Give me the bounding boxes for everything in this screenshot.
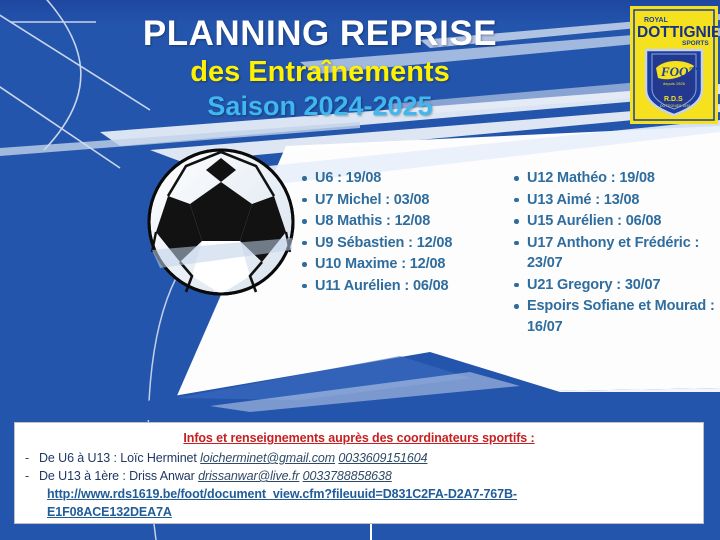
logo-shield-sub: DOTTIGNIES 1926 — [660, 104, 690, 108]
schedule-entry: U15 Aurélien : 06/08 — [527, 211, 720, 232]
title-line-3: Saison 2024-2025 — [0, 90, 640, 123]
soccer-ball-icon — [149, 150, 293, 294]
list-item: U12 Mathéo : 19/08 — [512, 168, 720, 189]
list-item: U21 Gregory : 30/07 — [512, 275, 720, 296]
poster-title: PLANNING REPRISE des Entraînements Saiso… — [0, 14, 640, 123]
schedule-column-left: U6 : 19/08 U7 Michel : 03/08 U8 Mathis :… — [300, 168, 500, 338]
contact-2-phone[interactable]: 0033788858638 — [303, 469, 392, 483]
club-logo-icon: ROYAL DOTTIGNIES SPORTS FOOT depuis 1926… — [630, 6, 718, 124]
contact-2-email[interactable]: drissanwar@live.fr — [198, 469, 299, 483]
schedule-entry: U13 Aimé : 13/08 — [527, 190, 720, 211]
schedule-entry: U12 Mathéo : 19/08 — [527, 168, 720, 189]
list-item: U13 Aimé : 13/08 — [512, 190, 720, 211]
contact-1-phone[interactable]: 0033609151604 — [338, 451, 427, 465]
bullet-dash: - — [25, 449, 39, 467]
schedule-column-right: U12 Mathéo : 19/08 U13 Aimé : 13/08 U15 … — [512, 168, 720, 338]
logo-center-text: FOOT — [660, 64, 697, 79]
contact-1-label: De U6 à U13 : Loïc Herminet — [39, 451, 197, 465]
schedule-lists: U6 : 19/08 U7 Michel : 03/08 U8 Mathis :… — [300, 168, 720, 338]
list-item: U11 Aurélien : 06/08 — [300, 276, 500, 297]
schedule-entry: U11 Aurélien : 06/08 — [315, 276, 500, 297]
contact-2-label: De U13 à 1ère : Driss Anwar — [39, 469, 195, 483]
poster-canvas: PLANNING REPRISE des Entraînements Saiso… — [0, 0, 720, 540]
schedule-entry: U7 Michel : 03/08 — [315, 190, 500, 211]
schedule-list-left: U6 : 19/08 U7 Michel : 03/08 U8 Mathis :… — [300, 168, 500, 296]
logo-sub-text: SPORTS — [682, 40, 709, 47]
schedule-entry: Espoirs Sofiane et Mourad : 16/07 — [527, 296, 720, 337]
list-item: U9 Sébastien : 12/08 — [300, 233, 500, 254]
schedule-entry: U17 Anthony et Frédéric : 23/07 — [527, 233, 720, 274]
logo-shield-text: R.D.S — [664, 96, 683, 103]
logo-top-text: ROYAL — [644, 17, 669, 24]
list-item: U10 Maxime : 12/08 — [300, 254, 500, 275]
list-item: U17 Anthony et Frédéric : 23/07 — [512, 233, 720, 274]
title-line-2: des Entraînements — [0, 54, 640, 90]
title-line-1: PLANNING REPRISE — [0, 14, 640, 54]
list-item: Espoirs Sofiane et Mourad : 16/07 — [512, 296, 720, 337]
list-item: U15 Aurélien : 06/08 — [512, 211, 720, 232]
schedule-entry: U6 : 19/08 — [315, 168, 500, 189]
info-heading: Infos et renseignements auprès des coord… — [25, 431, 693, 445]
list-item: U7 Michel : 03/08 — [300, 190, 500, 211]
club-logo: ROYAL DOTTIGNIES SPORTS FOOT depuis 1926… — [630, 6, 718, 124]
document-link-line-2[interactable]: E1F08ACE132DEA7A — [25, 503, 693, 521]
schedule-list-right: U12 Mathéo : 19/08 U13 Aimé : 13/08 U15 … — [512, 168, 720, 337]
bottom-divider-tick — [370, 524, 372, 540]
contact-row-2: -De U13 à 1ère : Driss Anwar drissanwar@… — [25, 467, 693, 485]
contact-row-1: -De U6 à U13 : Loïc Herminet loichermine… — [25, 449, 693, 467]
bullet-dash: - — [25, 467, 39, 485]
schedule-entry: U9 Sébastien : 12/08 — [315, 233, 500, 254]
logo-club-name: DOTTIGNIES — [637, 24, 718, 41]
list-item: U8 Mathis : 12/08 — [300, 211, 500, 232]
contact-1-email[interactable]: loicherminet@gmail.com — [200, 451, 335, 465]
logo-center-sub: depuis 1926 — [663, 81, 686, 86]
list-item: U6 : 19/08 — [300, 168, 500, 189]
schedule-entry: U10 Maxime : 12/08 — [315, 254, 500, 275]
document-link-line-1[interactable]: http://www.rds1619.be/foot/document_view… — [25, 485, 693, 503]
schedule-entry: U8 Mathis : 12/08 — [315, 211, 500, 232]
schedule-entry: U21 Gregory : 30/07 — [527, 275, 720, 296]
info-box: Infos et renseignements auprès des coord… — [14, 422, 704, 524]
